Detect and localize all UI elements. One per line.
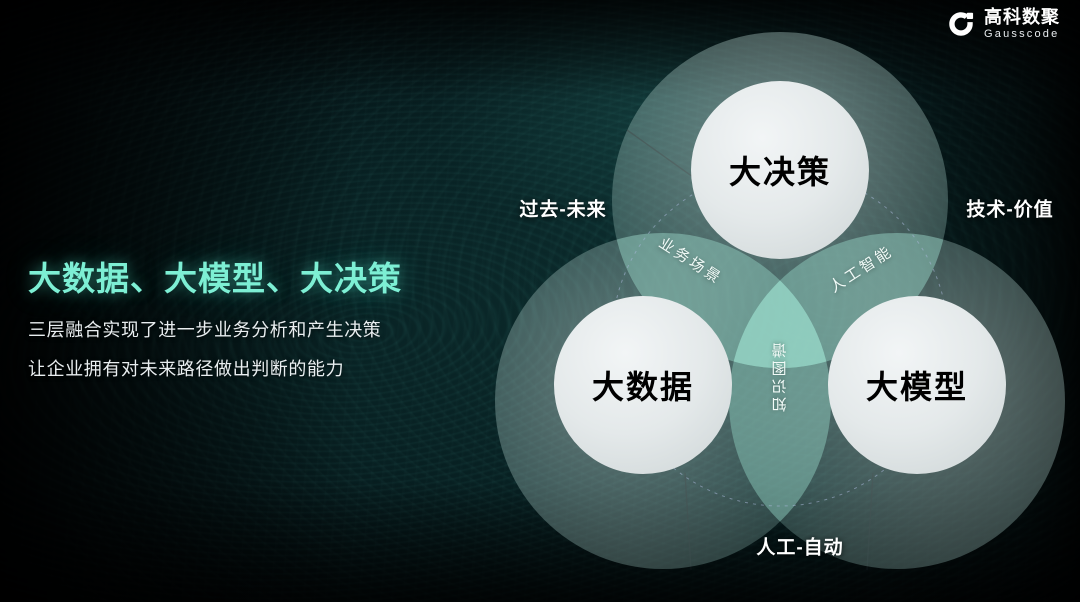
venn-axis-label-right: 技术-价值 <box>966 195 1053 222</box>
venn-core-bottom-left[interactable] <box>554 296 732 474</box>
logo-text-group: 高科数聚 Gausscode <box>984 8 1060 40</box>
logo-en-name: Gausscode <box>984 29 1060 40</box>
subtitle-line-1: 三层融合实现了进一步业务分析和产生决策 <box>28 316 468 342</box>
venn-core-top[interactable] <box>691 81 869 259</box>
venn-core-bottom-right[interactable] <box>828 296 1006 474</box>
brand-logo[interactable]: 高科数聚 Gausscode <box>947 8 1060 40</box>
venn-axis-label-left: 过去-未来 <box>519 195 606 222</box>
subtitle-line-2: 让企业拥有对未来路径做出判断的能力 <box>28 355 468 381</box>
venn-diagram: 大决策 大数据 大模型 业务场景 人工智能 知识图谱 <box>495 18 1065 583</box>
left-text-block: 大数据、大模型、大决策 三层融合实现了进一步业务分析和产生决策 让企业拥有对未来… <box>28 252 468 394</box>
logo-cn-name: 高科数聚 <box>984 8 1060 26</box>
slide-canvas: 大决策 大数据 大模型 业务场景 人工智能 知识图谱 过去-未来 技术-价值 人… <box>0 0 1080 602</box>
venn-axis-label-bottom: 人工-自动 <box>756 533 843 560</box>
page-title: 大数据、大模型、大决策 <box>28 252 468 300</box>
gausscode-g-mark-icon <box>947 10 975 38</box>
venn-svg <box>495 18 1065 583</box>
